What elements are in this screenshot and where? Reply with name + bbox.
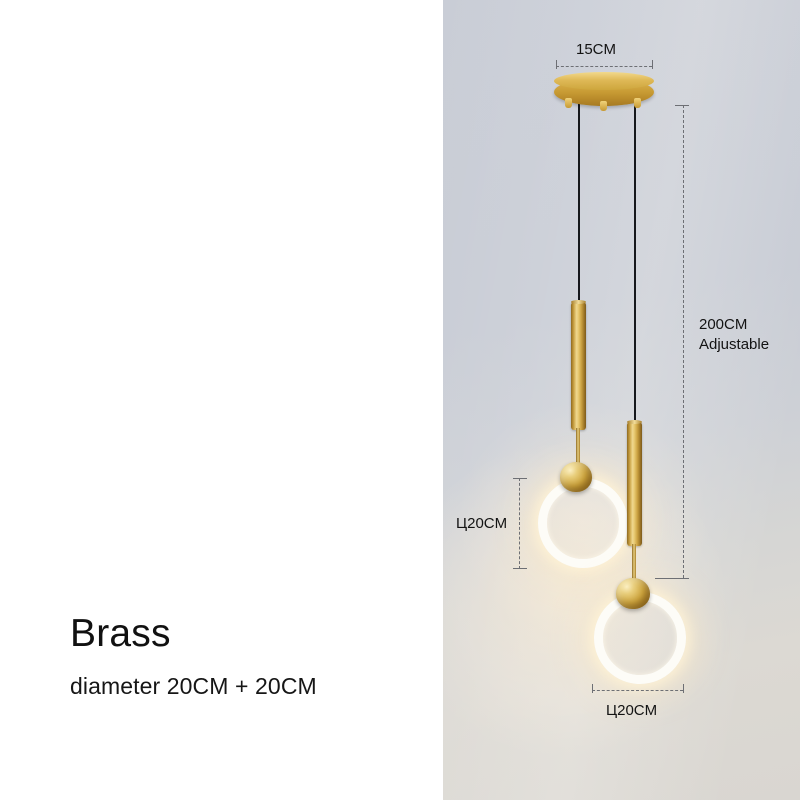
dimension-tick-right (652, 60, 653, 69)
dimension-tick-upper-bottom (513, 568, 527, 569)
dimension-label-ring-upper: Ц20CM (456, 515, 507, 532)
dimension-line-vertical (683, 105, 684, 578)
cable-nipple-center-icon (600, 101, 607, 111)
brass-ball-joint-icon-lower (616, 578, 650, 609)
led-ring-icon-upper (538, 478, 628, 568)
product-caption: Brass diameter 20CM + 20CM (70, 614, 317, 700)
dimension-line-horizontal (556, 66, 652, 67)
dimension-label-canopy-width: 15CM (576, 41, 616, 58)
suspension-cable-icon-left (578, 104, 580, 302)
dimension-tick-lower-left (592, 684, 593, 693)
ceiling-plate-top-face (554, 72, 654, 90)
dimension-tick-upper-top (513, 478, 527, 479)
product-photo: 15CM 200CM Adjustable Ц20CM Ц20CM (443, 0, 800, 800)
dimension-tick-left (556, 60, 557, 69)
dimension-line-vertical-upper (519, 478, 520, 569)
dimension-tick-lower-right (683, 684, 684, 693)
dimension-label-drop-length-note: Adjustable (699, 335, 769, 354)
product-image-card: Brass diameter 20CM + 20CM (0, 0, 800, 800)
cable-nipple-right-icon (634, 98, 641, 108)
product-material-title: Brass (70, 614, 317, 655)
brass-ball-joint-icon-upper (560, 462, 592, 492)
dimension-tick-bottom (655, 578, 689, 579)
brass-rod-icon-lower (627, 422, 642, 546)
product-size-subtitle: diameter 20CM + 20CM (70, 673, 317, 700)
suspension-cable-icon-right (634, 104, 636, 422)
brass-rod-cap-upper (571, 300, 586, 304)
dimension-tick-top (675, 105, 689, 106)
fixture-illustration (443, 0, 800, 800)
dimension-label-drop-length-value: 200CM (699, 315, 747, 334)
brass-rod-cap-lower (627, 420, 642, 424)
dimension-line-horizontal-lower (592, 690, 683, 691)
cable-nipple-left-icon (565, 98, 572, 108)
brass-rod-icon-upper (571, 302, 586, 430)
dimension-label-ring-lower: Ц20CM (606, 702, 657, 719)
